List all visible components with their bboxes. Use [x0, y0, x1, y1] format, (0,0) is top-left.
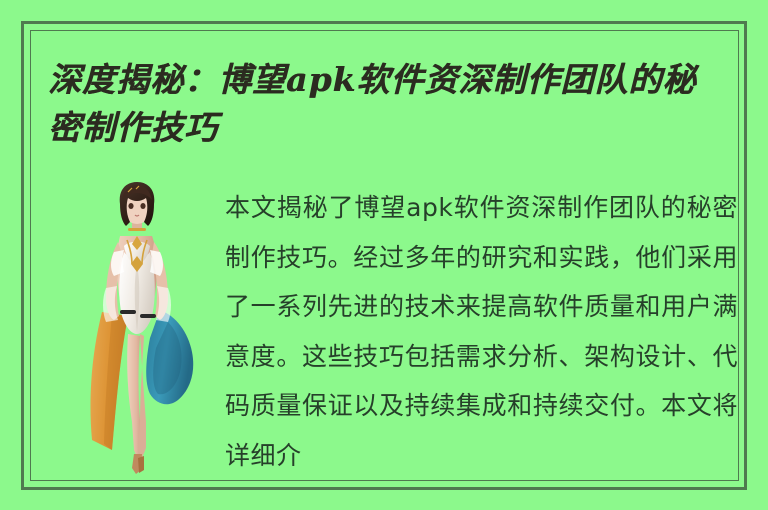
- gold-collar-icon: [128, 228, 146, 231]
- garter-left-icon: [120, 310, 136, 314]
- article-title: 深度揭秘：博望apk软件资深制作团队的秘密制作技巧: [48, 56, 728, 152]
- article-body-text: 本文揭秘了博望apk软件资深制作团队的秘密制作技巧。经过多年的研究和实践，他们采…: [225, 183, 738, 480]
- character-figure-icon: [72, 182, 208, 478]
- leg-right-shape: [138, 334, 146, 458]
- eye-left-icon: [128, 203, 133, 209]
- ruffle-right-shape: [150, 250, 163, 276]
- eye-right-icon: [140, 203, 145, 209]
- heel-right-icon: [138, 456, 144, 473]
- garter-right-icon: [140, 314, 156, 318]
- page-root: 深度揭秘：博望apk软件资深制作团队的秘密制作技巧 身着白色金饰礼服、手持橙色与…: [0, 0, 768, 510]
- article-illustration: 身着白色金饰礼服、手持橙色与青色披帛的动漫风格女性插画: [72, 182, 208, 478]
